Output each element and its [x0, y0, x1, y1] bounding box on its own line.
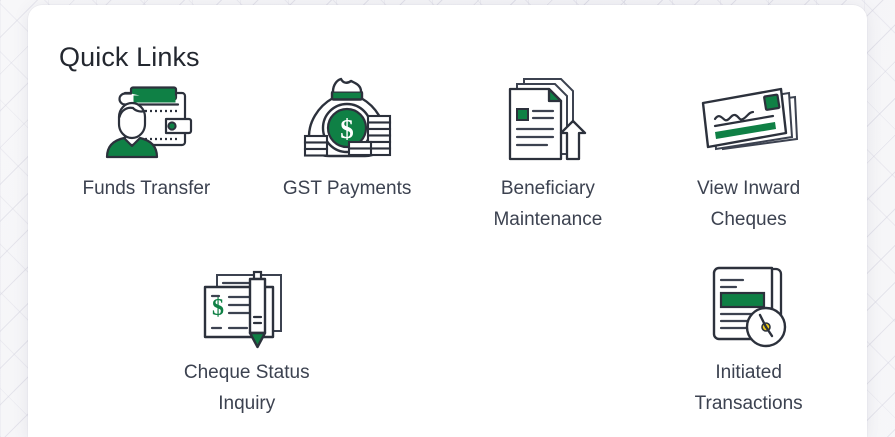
quick-link-label: GST Payments: [283, 173, 411, 204]
svg-text:$: $: [340, 114, 354, 144]
quick-link-gst-payments[interactable]: $: [247, 67, 448, 241]
quick-link-beneficiary-maintenance[interactable]: Beneficiary Maintenance: [448, 67, 649, 241]
quick-link-label: View Inward Cheques: [697, 173, 800, 235]
svg-text:$: $: [212, 295, 224, 321]
quick-link-view-inward-cheques[interactable]: View Inward Cheques: [648, 67, 849, 241]
quick-link-initiated-transactions[interactable]: Initiated Transactions: [648, 241, 849, 425]
grid-spacer-middle-c: [548, 241, 648, 425]
quick-link-label: Cheque Status Inquiry: [184, 357, 310, 419]
wallet-person-icon: [94, 75, 198, 167]
quick-links-grid: Funds Transfer $: [46, 67, 849, 425]
grid-spacer-middle-a: [347, 241, 447, 425]
page-root: Quick Links: [0, 0, 895, 437]
documents-upload-icon: [503, 75, 593, 167]
quick-link-cheque-status-inquiry[interactable]: $ Cheque Status Inquiry: [146, 241, 347, 425]
quick-link-label: Beneficiary Maintenance: [493, 173, 602, 235]
quick-link-label: Initiated Transactions: [695, 357, 803, 419]
grid-spacer-middle-b: [448, 241, 548, 425]
document-clock-icon: [702, 259, 796, 351]
money-bag-coins-icon: $: [297, 75, 397, 167]
quick-link-label: Funds Transfer: [82, 173, 210, 204]
cheque-pen-icon: $: [197, 259, 297, 351]
quick-links-card: Quick Links: [28, 5, 867, 437]
quick-link-funds-transfer[interactable]: Funds Transfer: [46, 67, 247, 241]
cheques-stack-icon: [697, 75, 801, 167]
grid-spacer-left: [46, 241, 146, 425]
